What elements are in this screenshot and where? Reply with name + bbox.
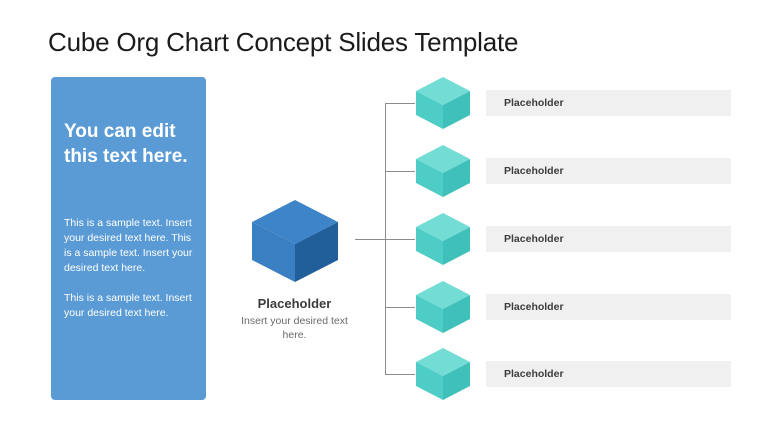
- placeholder-bar-label: Placeholder: [504, 361, 564, 387]
- branch-row[interactable]: Placeholder: [415, 212, 768, 280]
- branch-row[interactable]: Placeholder: [415, 76, 768, 144]
- connector-stem: [355, 239, 385, 240]
- side-panel[interactable]: You can edit this text here. This is a s…: [51, 77, 206, 400]
- placeholder-bar[interactable]: Placeholder: [486, 90, 731, 116]
- placeholder-bar[interactable]: Placeholder: [486, 361, 731, 387]
- side-panel-paragraph-1: This is a sample text. Insert your desir…: [64, 216, 198, 276]
- placeholder-bar-label: Placeholder: [504, 158, 564, 184]
- branch-row[interactable]: Placeholder: [415, 280, 768, 348]
- connector-branch-3: [385, 239, 415, 240]
- cube-icon: [415, 347, 471, 401]
- cube-icon: [415, 212, 471, 266]
- main-node-subtitle: Insert your desired text here.: [232, 314, 357, 342]
- cube-icon: [415, 280, 471, 334]
- placeholder-bar[interactable]: Placeholder: [486, 158, 731, 184]
- connector-branch-2: [385, 171, 415, 172]
- main-node-title: Placeholder: [232, 296, 357, 311]
- page-title: Cube Org Chart Concept Slides Template: [48, 27, 518, 58]
- slide-canvas: Cube Org Chart Concept Slides Template Y…: [0, 0, 768, 432]
- main-cube-icon: [250, 198, 340, 284]
- placeholder-bar[interactable]: Placeholder: [486, 294, 731, 320]
- placeholder-bar-label: Placeholder: [504, 294, 564, 320]
- main-node[interactable]: Placeholder Insert your desired text her…: [232, 198, 357, 342]
- side-panel-paragraph-2: This is a sample text. Insert your desir…: [64, 291, 198, 321]
- connector-branch-5: [385, 374, 415, 375]
- cube-icon: [415, 76, 471, 130]
- connector-branch-4: [385, 307, 415, 308]
- side-panel-body: This is a sample text. Insert your desir…: [64, 216, 198, 321]
- branch-row[interactable]: Placeholder: [415, 347, 768, 415]
- placeholder-bar[interactable]: Placeholder: [486, 226, 731, 252]
- placeholder-bar-label: Placeholder: [504, 90, 564, 116]
- placeholder-bar-label: Placeholder: [504, 226, 564, 252]
- side-panel-heading: You can edit this text here.: [64, 119, 196, 169]
- cube-icon: [415, 144, 471, 198]
- branch-row[interactable]: Placeholder: [415, 144, 768, 212]
- connector-branch-1: [385, 103, 415, 104]
